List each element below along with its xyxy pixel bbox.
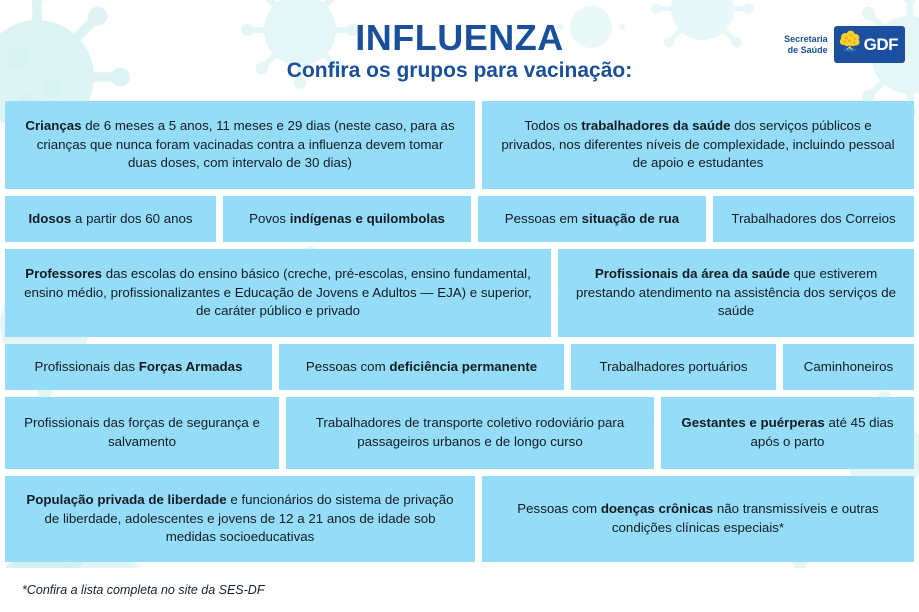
- group-box-criancas[interactable]: Crianças de 6 meses a 5 anos, 11 meses e…: [5, 101, 475, 189]
- group-text: Profissionais das forças de segurança e …: [15, 414, 269, 452]
- group-text: Idosos a partir dos 60 anos: [28, 210, 192, 229]
- group-text: Professores das escolas do ensino básico…: [15, 265, 541, 322]
- groups-grid: Crianças de 6 meses a 5 anos, 11 meses e…: [0, 101, 919, 562]
- group-row-4: Profissionais das Forças Armadas Pessoas…: [5, 344, 914, 390]
- tree-icon: [838, 30, 862, 59]
- group-text: Trabalhadores portuários: [599, 358, 747, 377]
- group-box-populacao-privada-liberdade[interactable]: População privada de liberdade e funcion…: [5, 476, 475, 562]
- group-row-1: Crianças de 6 meses a 5 anos, 11 meses e…: [5, 101, 914, 189]
- page-subtitle: Confira os grupos para vacinação:: [287, 60, 632, 81]
- group-text: População privada de liberdade e funcion…: [15, 491, 465, 548]
- group-row-5: Profissionais das forças de segurança e …: [5, 397, 914, 469]
- group-box-doencas-cronicas[interactable]: Pessoas com doenças crônicas não transmi…: [482, 476, 914, 562]
- page-title: INFLUENZA: [355, 20, 563, 56]
- group-box-transporte-coletivo-rodoviario[interactable]: Trabalhadores de transporte coletivo rod…: [286, 397, 654, 469]
- group-box-forcas-seguranca-salvamento[interactable]: Profissionais das forças de segurança e …: [5, 397, 279, 469]
- group-text: Profissionais das Forças Armadas: [35, 358, 243, 377]
- secretaria-line-2: de Saúde: [784, 45, 828, 55]
- group-text: Pessoas em situação de rua: [505, 210, 679, 229]
- group-row-3: Professores das escolas do ensino básico…: [5, 249, 914, 337]
- gdf-badge: GDF: [834, 26, 905, 63]
- group-text: Caminhoneiros: [804, 358, 893, 377]
- gdf-logo: Secretaria de Saúde: [784, 26, 905, 63]
- group-text: Todos os trabalhadores da saúde dos serv…: [492, 117, 904, 174]
- footer-note-bar: *Confira a lista completa no site da SES…: [0, 568, 919, 612]
- footer-note: *Confira a lista completa no site da SES…: [0, 583, 264, 597]
- group-box-trabalhadores-correios[interactable]: Trabalhadores dos Correios: [713, 196, 914, 242]
- group-text: Trabalhadores de transporte coletivo rod…: [296, 414, 644, 452]
- group-box-situacao-de-rua[interactable]: Pessoas em situação de rua: [478, 196, 706, 242]
- poster-header: INFLUENZA Confira os grupos para vacinaç…: [0, 0, 919, 101]
- influenza-vaccination-poster: INFLUENZA Confira os grupos para vacinaç…: [0, 0, 919, 612]
- group-box-gestantes-puerperas[interactable]: Gestantes e puérperas até 45 dias após o…: [661, 397, 914, 469]
- group-text: Profissionais da área da saúde que estiv…: [568, 265, 904, 322]
- group-row-2: Idosos a partir dos 60 anos Povos indíge…: [5, 196, 914, 242]
- secretaria-de-saude-label: Secretaria de Saúde: [784, 34, 828, 55]
- group-box-idosos[interactable]: Idosos a partir dos 60 anos: [5, 196, 216, 242]
- group-box-deficiencia-permanente[interactable]: Pessoas com deficiência permanente: [279, 344, 564, 390]
- group-box-caminhoneiros[interactable]: Caminhoneiros: [783, 344, 914, 390]
- group-text: Povos indígenas e quilombolas: [249, 210, 445, 229]
- secretaria-line-1: Secretaria: [784, 34, 828, 44]
- group-row-6: População privada de liberdade e funcion…: [5, 476, 914, 562]
- group-text: Crianças de 6 meses a 5 anos, 11 meses e…: [15, 117, 465, 174]
- group-text: Pessoas com deficiência permanente: [306, 358, 537, 377]
- group-box-indigenas-quilombolas[interactable]: Povos indígenas e quilombolas: [223, 196, 471, 242]
- group-text: Trabalhadores dos Correios: [731, 210, 895, 229]
- group-text: Gestantes e puérperas até 45 dias após o…: [671, 414, 904, 452]
- group-text: Pessoas com doenças crônicas não transmi…: [492, 500, 904, 538]
- group-box-profissionais-area-saude[interactable]: Profissionais da área da saúde que estiv…: [558, 249, 914, 337]
- group-box-forcas-armadas[interactable]: Profissionais das Forças Armadas: [5, 344, 272, 390]
- group-box-trabalhadores-da-saude[interactable]: Todos os trabalhadores da saúde dos serv…: [482, 101, 914, 189]
- group-box-trabalhadores-portuarios[interactable]: Trabalhadores portuários: [571, 344, 776, 390]
- gdf-text: GDF: [864, 36, 898, 53]
- group-box-professores[interactable]: Professores das escolas do ensino básico…: [5, 249, 551, 337]
